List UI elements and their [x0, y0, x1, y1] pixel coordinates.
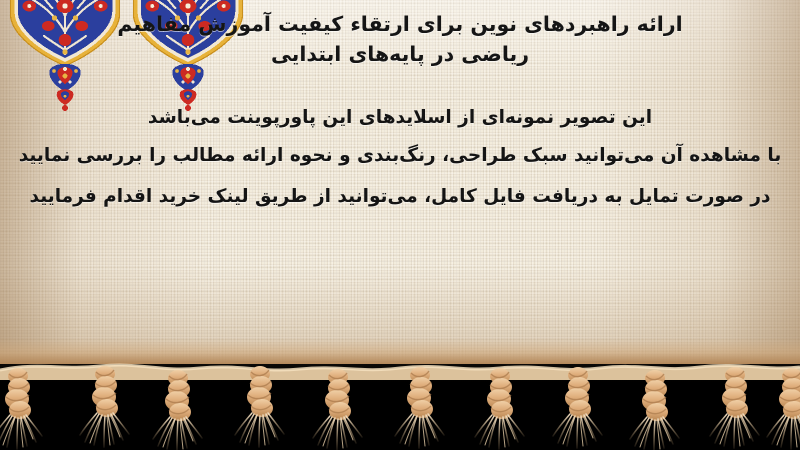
body-line-2: با مشاهده آن می‌توانید سبک طراحی، رنگ‌بن…	[18, 136, 782, 176]
body-line-1: این تصویر نمونه‌ای از اسلایدهای این پاور…	[18, 99, 782, 136]
body-text: این تصویر نمونه‌ای از اسلایدهای این پاور…	[0, 69, 800, 217]
slide-canvas: ارائه راهبردهای نوین برای ارتقاء کیفیت آ…	[0, 0, 800, 450]
title-line-2: ریاضی در پایه‌های ابتدایی	[40, 40, 760, 70]
fringe-tassels-icon	[0, 340, 800, 450]
slide-text-layer: ارائه راهبردهای نوین برای ارتقاء کیفیت آ…	[0, 0, 800, 217]
title-line-1: ارائه راهبردهای نوین برای ارتقاء کیفیت آ…	[40, 10, 760, 40]
carpet-fringe	[0, 340, 800, 450]
page-title: ارائه راهبردهای نوین برای ارتقاء کیفیت آ…	[0, 0, 800, 69]
body-line-3: در صورت تمایل به دریافت فایل کامل، می‌تو…	[18, 177, 782, 217]
